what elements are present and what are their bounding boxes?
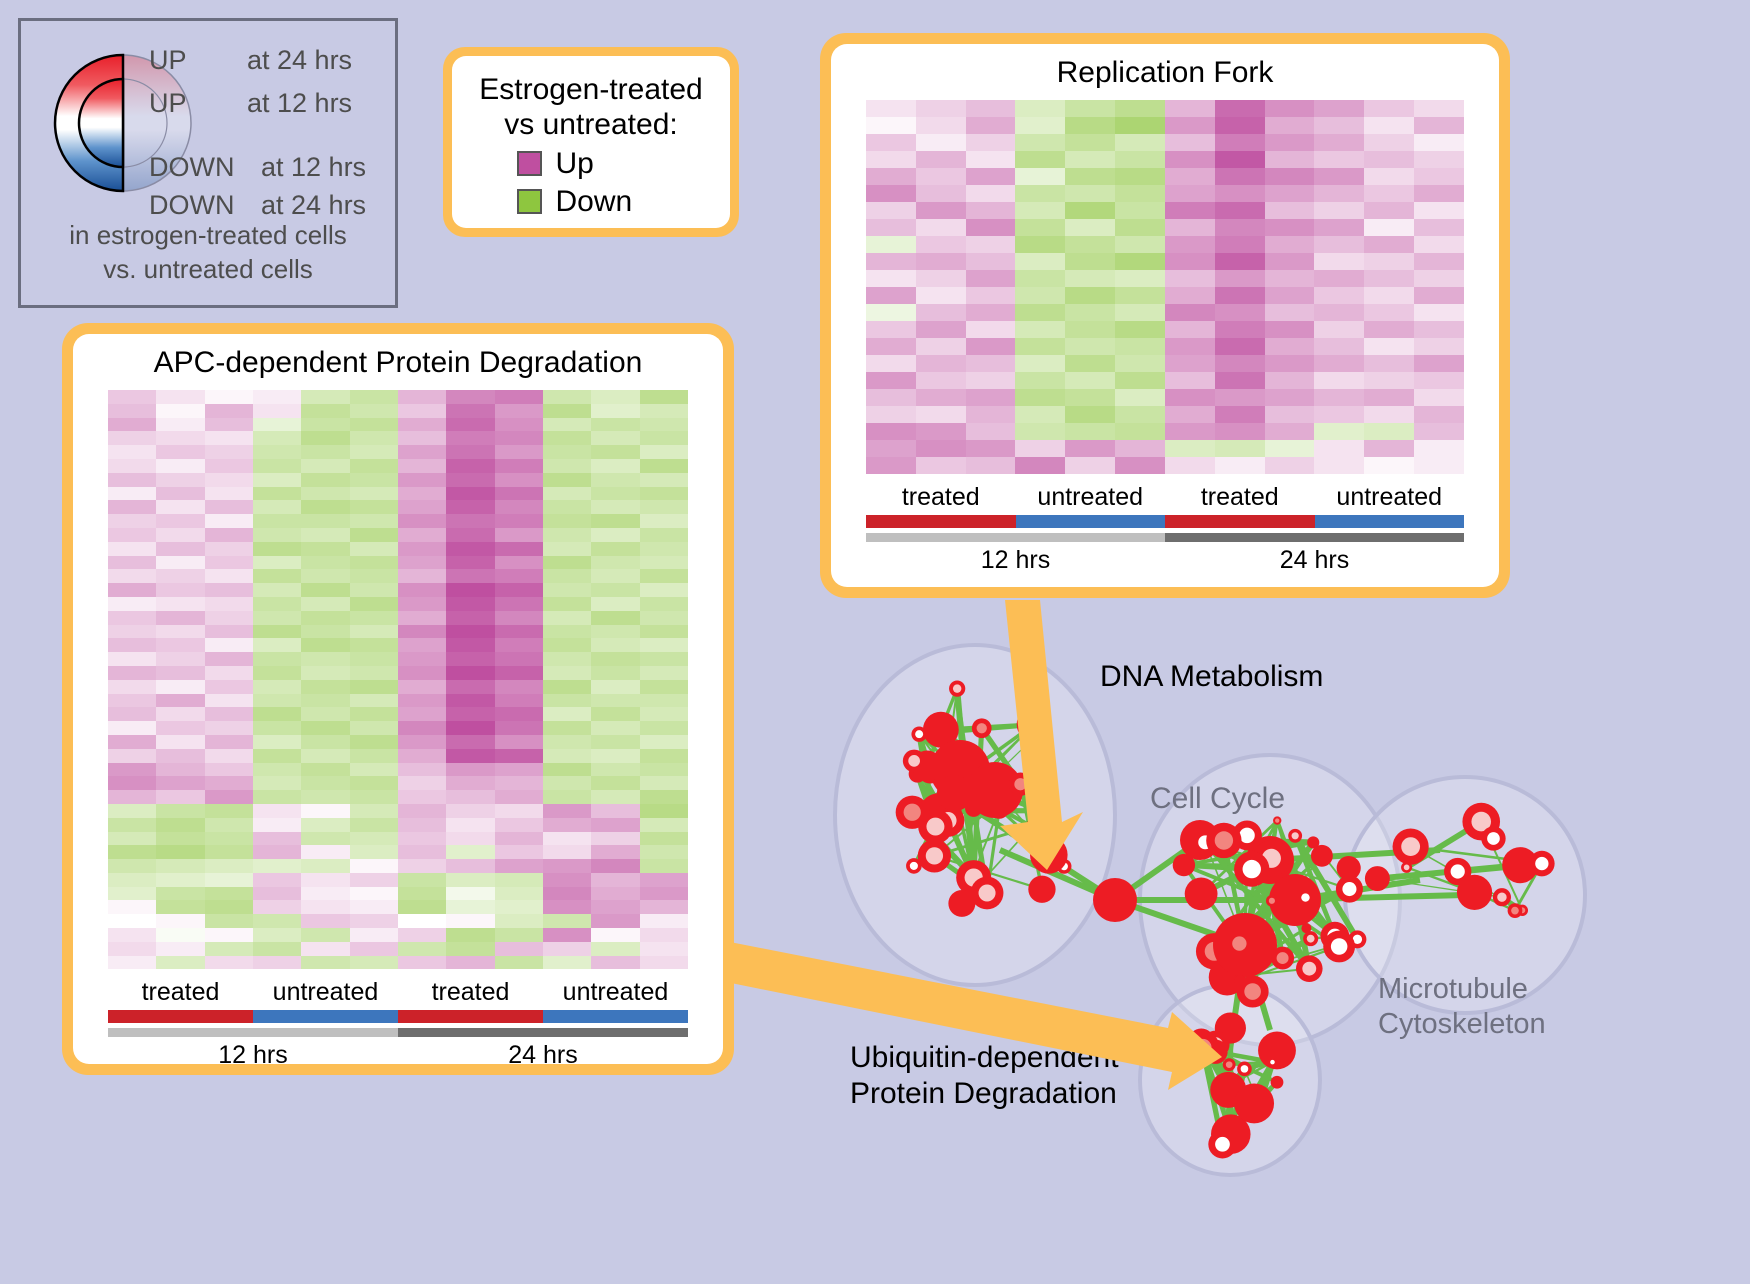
heatmap-cell: [350, 873, 398, 887]
heatmap-cell: [108, 956, 156, 970]
heatmap-cell: [1115, 270, 1165, 287]
heatmap-cell: [253, 638, 301, 652]
heatmap-cell: [350, 776, 398, 790]
heatmap-cell: [866, 100, 916, 117]
heatmap-cell: [108, 500, 156, 514]
time-label-12hrs: 12 hrs: [866, 546, 1165, 575]
updown-legend-row-down: Down: [458, 185, 724, 219]
heatmap-cell: [398, 666, 446, 680]
heatmap-cell: [1215, 219, 1265, 236]
heatmap-cell: [350, 569, 398, 583]
heatmap-cell: [1265, 236, 1315, 253]
heatmap-cell: [205, 542, 253, 556]
heatmap-cell: [866, 134, 916, 151]
network-node: [1208, 1130, 1236, 1158]
heatmap-cell: [1364, 117, 1414, 134]
heatmap-cell: [156, 459, 204, 473]
heatmap-cell: [916, 253, 966, 270]
heatmap-cell: [866, 355, 916, 372]
heatmap-cell: [966, 100, 1016, 117]
heatmap-cell: [301, 818, 349, 832]
heatmap-cell: [640, 542, 688, 556]
heatmap-cell: [640, 942, 688, 956]
heatmap-cell: [1364, 202, 1414, 219]
heatmap-cell: [495, 445, 543, 459]
time-labels-replication-fork: 12 hrs 24 hrs: [866, 546, 1464, 575]
heatmap-cell: [398, 873, 446, 887]
heatmap-cell: [591, 611, 639, 625]
heatmap-cell: [866, 423, 916, 440]
heatmap-cell: [591, 625, 639, 639]
heatmap-cell: [495, 680, 543, 694]
heatmap-cell: [591, 500, 639, 514]
heatmap-cell: [446, 583, 494, 597]
heatmap-cell: [1165, 321, 1215, 338]
heatmap-cell: [495, 542, 543, 556]
heatmap-cell: [1165, 117, 1215, 134]
heatmap-replication-fork: [866, 100, 1464, 474]
heatmap-cell: [495, 418, 543, 432]
heatmap-cell: [156, 790, 204, 804]
heatmap-cell: [398, 390, 446, 404]
heatmap-cell: [205, 845, 253, 859]
heatmap-cell: [301, 528, 349, 542]
heatmap-cell: [398, 404, 446, 418]
heatmap-cell: [1414, 389, 1464, 406]
heatmap-cell: [398, 776, 446, 790]
heatmap-cell: [1015, 423, 1065, 440]
heatmap-cell: [446, 652, 494, 666]
heatmap-cell: [1065, 423, 1115, 440]
heatmap-cell: [1414, 440, 1464, 457]
time-bar-segment: [866, 533, 1165, 542]
heatmap-cell: [1314, 219, 1364, 236]
heatmap-cell: [640, 404, 688, 418]
heatmap-cell: [446, 418, 494, 432]
heatmap-cell: [866, 372, 916, 389]
heatmap-cell: [866, 287, 916, 304]
heatmap-cell: [108, 804, 156, 818]
heatmap-cell: [495, 431, 543, 445]
heatmap-cell: [398, 652, 446, 666]
heatmap-cell: [966, 304, 1016, 321]
heatmap-cell: [1314, 100, 1364, 117]
heatmap-cell: [1015, 287, 1065, 304]
heatmap-cell: [301, 804, 349, 818]
heatmap-cell: [543, 418, 591, 432]
heatmap-cell: [205, 514, 253, 528]
heatmap-cell: [1364, 440, 1414, 457]
panel-title-replication-fork: Replication Fork: [1057, 56, 1274, 90]
heatmap-cell: [1414, 270, 1464, 287]
heatmap-cell: [640, 459, 688, 473]
heatmap-cell: [1414, 355, 1464, 372]
heatmap-cell: [398, 914, 446, 928]
heatmap-cell: [640, 556, 688, 570]
heatmap-cell: [1015, 457, 1065, 474]
heatmap-cell: [591, 694, 639, 708]
heatmap-cell: [1115, 389, 1165, 406]
time-label-24hrs: 24 hrs: [398, 1041, 688, 1070]
heatmap-cell: [350, 914, 398, 928]
heatmap-cell: [205, 487, 253, 501]
updown-legend-row-up: Up: [458, 147, 724, 181]
heatmap-cell: [640, 749, 688, 763]
heatmap-cell: [446, 832, 494, 846]
heatmap-cell: [543, 652, 591, 666]
cluster-label-cell-cycle: Cell Cycle: [1150, 782, 1285, 816]
heatmap-cell: [350, 487, 398, 501]
heatmap-cell: [640, 473, 688, 487]
heatmap-cell: [253, 652, 301, 666]
heatmap-cell: [350, 832, 398, 846]
heatmap-cell: [543, 556, 591, 570]
heatmap-cell: [205, 790, 253, 804]
heatmap-cell: [446, 569, 494, 583]
heatmap-cell: [1015, 134, 1065, 151]
heatmap-cell: [916, 304, 966, 321]
heatmap-cell: [446, 638, 494, 652]
heatmap-cell: [253, 680, 301, 694]
heatmap-cell: [966, 236, 1016, 253]
network-node: [903, 750, 926, 773]
heatmap-cell: [398, 597, 446, 611]
heatmap-cell: [301, 680, 349, 694]
heatmap-cell: [156, 804, 204, 818]
heatmap-cell: [591, 638, 639, 652]
heatmap-cell: [108, 528, 156, 542]
heatmap-cell: [591, 652, 639, 666]
heatmap-cell: [1414, 185, 1464, 202]
heatmap-cell: [495, 528, 543, 542]
heatmap-cell: [398, 845, 446, 859]
heatmap-cell: [398, 625, 446, 639]
heatmap-cell: [253, 418, 301, 432]
heatmap-cell: [543, 473, 591, 487]
heatmap-cell: [1414, 117, 1464, 134]
heatmap-cell: [1414, 219, 1464, 236]
heatmap-cell: [446, 487, 494, 501]
group-label-untreated-24: untreated: [543, 978, 688, 1007]
network-node: [1273, 816, 1281, 824]
heatmap-cell: [1314, 185, 1364, 202]
treatment-bar-segment: [1315, 515, 1465, 528]
heatmap-cell: [1015, 202, 1065, 219]
heatmap-cell: [1115, 321, 1165, 338]
heatmap-cell: [966, 151, 1016, 168]
legend-footer-line2: vs. untreated cells: [21, 253, 395, 287]
heatmap-cell: [253, 583, 301, 597]
heatmap-cell: [301, 597, 349, 611]
heatmap-cell: [156, 390, 204, 404]
heatmap-cell: [1314, 406, 1364, 423]
heatmap-cell: [398, 735, 446, 749]
heatmap-cell: [301, 652, 349, 666]
heatmap-cell: [253, 859, 301, 873]
heatmap-cell: [398, 445, 446, 459]
heatmap-cell: [916, 355, 966, 372]
heatmap-cell: [543, 900, 591, 914]
heatmap-cell: [543, 942, 591, 956]
heatmap-cell: [1265, 168, 1315, 185]
heatmap-cell: [398, 707, 446, 721]
heatmap-cell: [495, 556, 543, 570]
heatmap-cell: [1065, 457, 1115, 474]
heatmap-cell: [446, 611, 494, 625]
heatmap-cell: [591, 804, 639, 818]
heatmap-cell: [543, 666, 591, 680]
heatmap-cell: [350, 625, 398, 639]
heatmap-cell: [916, 372, 966, 389]
heatmap-cell: [108, 735, 156, 749]
heatmap-cell: [1364, 423, 1414, 440]
heatmap-cell: [350, 887, 398, 901]
heatmap-cell: [156, 611, 204, 625]
heatmap-cell: [640, 431, 688, 445]
heatmap-cell: [1015, 321, 1065, 338]
heatmap-cell: [301, 487, 349, 501]
heatmap-cell: [253, 694, 301, 708]
heatmap-cell: [1314, 236, 1364, 253]
heatmap-cell: [916, 321, 966, 338]
network-node: [949, 681, 965, 697]
heatmap-cell: [253, 625, 301, 639]
heatmap-cell: [301, 928, 349, 942]
heatmap-cell: [1215, 151, 1265, 168]
heatmap-cell: [866, 338, 916, 355]
heatmap-cell: [966, 253, 1016, 270]
heatmap-cell: [253, 749, 301, 763]
time-label-12hrs: 12 hrs: [108, 1041, 398, 1070]
heatmap-cell: [591, 818, 639, 832]
heatmap-cell: [1065, 185, 1115, 202]
time-color-bar-apc: [108, 1028, 688, 1037]
heatmap-cell: [398, 459, 446, 473]
heatmap-cell: [350, 418, 398, 432]
heatmap-cell: [640, 873, 688, 887]
heatmap-cell: [640, 721, 688, 735]
heatmap-cell: [108, 763, 156, 777]
heatmap-cell: [1165, 355, 1215, 372]
heatmap-cell: [1015, 304, 1065, 321]
heatmap-cell: [108, 473, 156, 487]
heatmap-cell: [301, 514, 349, 528]
heatmap-cell: [253, 404, 301, 418]
heatmap-cell: [350, 749, 398, 763]
heatmap-cell: [108, 942, 156, 956]
heatmap-cell: [1115, 372, 1165, 389]
heatmap-cell: [205, 680, 253, 694]
heatmap-cell: [1215, 372, 1265, 389]
heatmap-cell: [640, 845, 688, 859]
down-label: Down: [556, 185, 666, 219]
network-node: [1401, 862, 1412, 873]
heatmap-cell: [866, 168, 916, 185]
heatmap-cell: [253, 790, 301, 804]
heatmap-cell: [156, 445, 204, 459]
heatmap-cell: [640, 680, 688, 694]
heatmap-cell: [916, 457, 966, 474]
heatmap-cell: [1265, 202, 1315, 219]
heatmap-cell: [446, 390, 494, 404]
heatmap-cell: [205, 556, 253, 570]
heatmap-cell: [1414, 287, 1464, 304]
heatmap-cell: [108, 431, 156, 445]
heatmap-cell: [591, 473, 639, 487]
heatmap-cell: [1065, 355, 1115, 372]
group-label-treated-24: treated: [398, 978, 543, 1007]
heatmap-cell: [495, 776, 543, 790]
network-node: [1365, 866, 1390, 891]
heatmap-cell: [156, 707, 204, 721]
heatmap-cell: [1215, 440, 1265, 457]
heatmap-cell: [350, 542, 398, 556]
heatmap-cell: [640, 956, 688, 970]
heatmap-cell: [640, 832, 688, 846]
heatmap-cell: [1065, 253, 1115, 270]
heatmap-cell: [1265, 253, 1315, 270]
heatmap-cell: [543, 638, 591, 652]
group-label-treated-24: treated: [1165, 483, 1315, 512]
updown-color-legend: Estrogen-treated vs untreated: Up Down: [443, 47, 739, 237]
heatmap-cell: [966, 406, 1016, 423]
heatmap-cell: [398, 859, 446, 873]
network-node: [1030, 836, 1068, 874]
heatmap-cell: [108, 445, 156, 459]
heatmap-cell: [495, 832, 543, 846]
heatmap-cell: [1314, 457, 1364, 474]
network-node: [1020, 737, 1034, 751]
treatment-bar-segment: [253, 1010, 398, 1023]
heatmap-cell: [1265, 304, 1315, 321]
heatmap-cell: [108, 487, 156, 501]
heatmap-cell: [495, 735, 543, 749]
heatmap-cell: [1215, 338, 1265, 355]
heatmap-cell: [640, 914, 688, 928]
heatmap-cell: [1314, 202, 1364, 219]
heatmap-cell: [591, 790, 639, 804]
heatmap-cell: [301, 500, 349, 514]
up-color-swatch: [517, 151, 542, 176]
heatmap-cell: [1265, 355, 1315, 372]
heatmap-cell: [1364, 168, 1414, 185]
heatmap-cell: [253, 390, 301, 404]
cluster-label-microtubule: Microtubule Cytoskeleton: [1378, 972, 1546, 1042]
heatmap-cell: [1265, 185, 1315, 202]
heatmap-cell: [253, 845, 301, 859]
heatmap-cell: [1215, 100, 1265, 117]
heatmap-cell: [1065, 372, 1115, 389]
group-labels-replication-fork: treated untreated treated untreated: [866, 483, 1464, 512]
heatmap-cell: [1115, 287, 1165, 304]
heatmap-cell: [253, 528, 301, 542]
network-node: [918, 839, 951, 872]
heatmap-cell: [543, 611, 591, 625]
heatmap-cell: [966, 389, 1016, 406]
heatmap-cell: [543, 528, 591, 542]
heatmap-cell: [543, 859, 591, 873]
heatmap-cell: [350, 680, 398, 694]
legend-state-down-12: DOWN: [149, 152, 234, 183]
heatmap-cell: [1065, 117, 1115, 134]
network-node: [911, 726, 926, 741]
heatmap-cell: [591, 956, 639, 970]
heatmap-cell: [350, 431, 398, 445]
heatmap-cell: [350, 404, 398, 418]
heatmap-cell: [446, 914, 494, 928]
heatmap-cell: [1364, 185, 1414, 202]
heatmap-cell: [301, 956, 349, 970]
heatmap-cell: [350, 721, 398, 735]
heatmap-cell: [640, 707, 688, 721]
heatmap-cell: [591, 859, 639, 873]
time-labels-apc: 12 hrs 24 hrs: [108, 1041, 688, 1070]
heatmap-cell: [495, 694, 543, 708]
heatmap-cell: [1015, 355, 1065, 372]
cluster-label-microtubule-line1: Microtubule: [1378, 972, 1546, 1007]
heatmap-cell: [495, 845, 543, 859]
heatmap-cell: [253, 459, 301, 473]
heatmap-cell: [108, 556, 156, 570]
group-label-treated-12: treated: [866, 483, 1016, 512]
heatmap-cell: [301, 721, 349, 735]
down-color-swatch: [517, 189, 542, 214]
treatment-bar-segment: [1016, 515, 1166, 528]
heatmap-cell: [1115, 457, 1165, 474]
heatmap-cell: [866, 321, 916, 338]
heatmap-cell: [916, 168, 966, 185]
heatmap-cell: [916, 440, 966, 457]
updown-legend-line1: Estrogen-treated: [458, 72, 724, 107]
heatmap-cell: [866, 202, 916, 219]
heatmap-cell: [350, 845, 398, 859]
time-color-bar-replication-fork: [866, 533, 1464, 542]
heatmap-cell: [156, 956, 204, 970]
heatmap-cell: [156, 873, 204, 887]
network-node: [1508, 903, 1523, 918]
heatmap-cell: [156, 431, 204, 445]
heatmap-cell: [108, 390, 156, 404]
heatmap-cell: [253, 431, 301, 445]
heatmap-cell: [1165, 372, 1215, 389]
heatmap-cell: [108, 749, 156, 763]
heatmap-cell: [301, 611, 349, 625]
heatmap-cell: [1215, 117, 1265, 134]
heatmap-cell: [1364, 321, 1414, 338]
heatmap-cell: [640, 487, 688, 501]
heatmap-cell: [446, 942, 494, 956]
heatmap-cell: [108, 418, 156, 432]
heatmap-cell: [866, 219, 916, 236]
heatmap-cell: [1265, 117, 1315, 134]
heatmap-cell: [543, 845, 591, 859]
heatmap-cell: [253, 597, 301, 611]
heatmap-cell: [156, 914, 204, 928]
heatmap-cell: [591, 680, 639, 694]
heatmap-cell: [495, 514, 543, 528]
heatmap-cell: [640, 597, 688, 611]
cluster-label-ubiquitin: Ubiquitin-dependent Protein Degradation: [850, 1040, 1119, 1112]
heatmap-cell: [966, 321, 1016, 338]
heatmap-cell: [591, 763, 639, 777]
heatmap-cell: [350, 652, 398, 666]
legend-time-up-12: at 12 hrs: [247, 88, 352, 119]
heatmap-cell: [301, 542, 349, 556]
heatmap-cell: [301, 418, 349, 432]
treatment-bar-segment: [543, 1010, 688, 1023]
heatmap-cell: [495, 790, 543, 804]
heatmap-cell: [301, 569, 349, 583]
